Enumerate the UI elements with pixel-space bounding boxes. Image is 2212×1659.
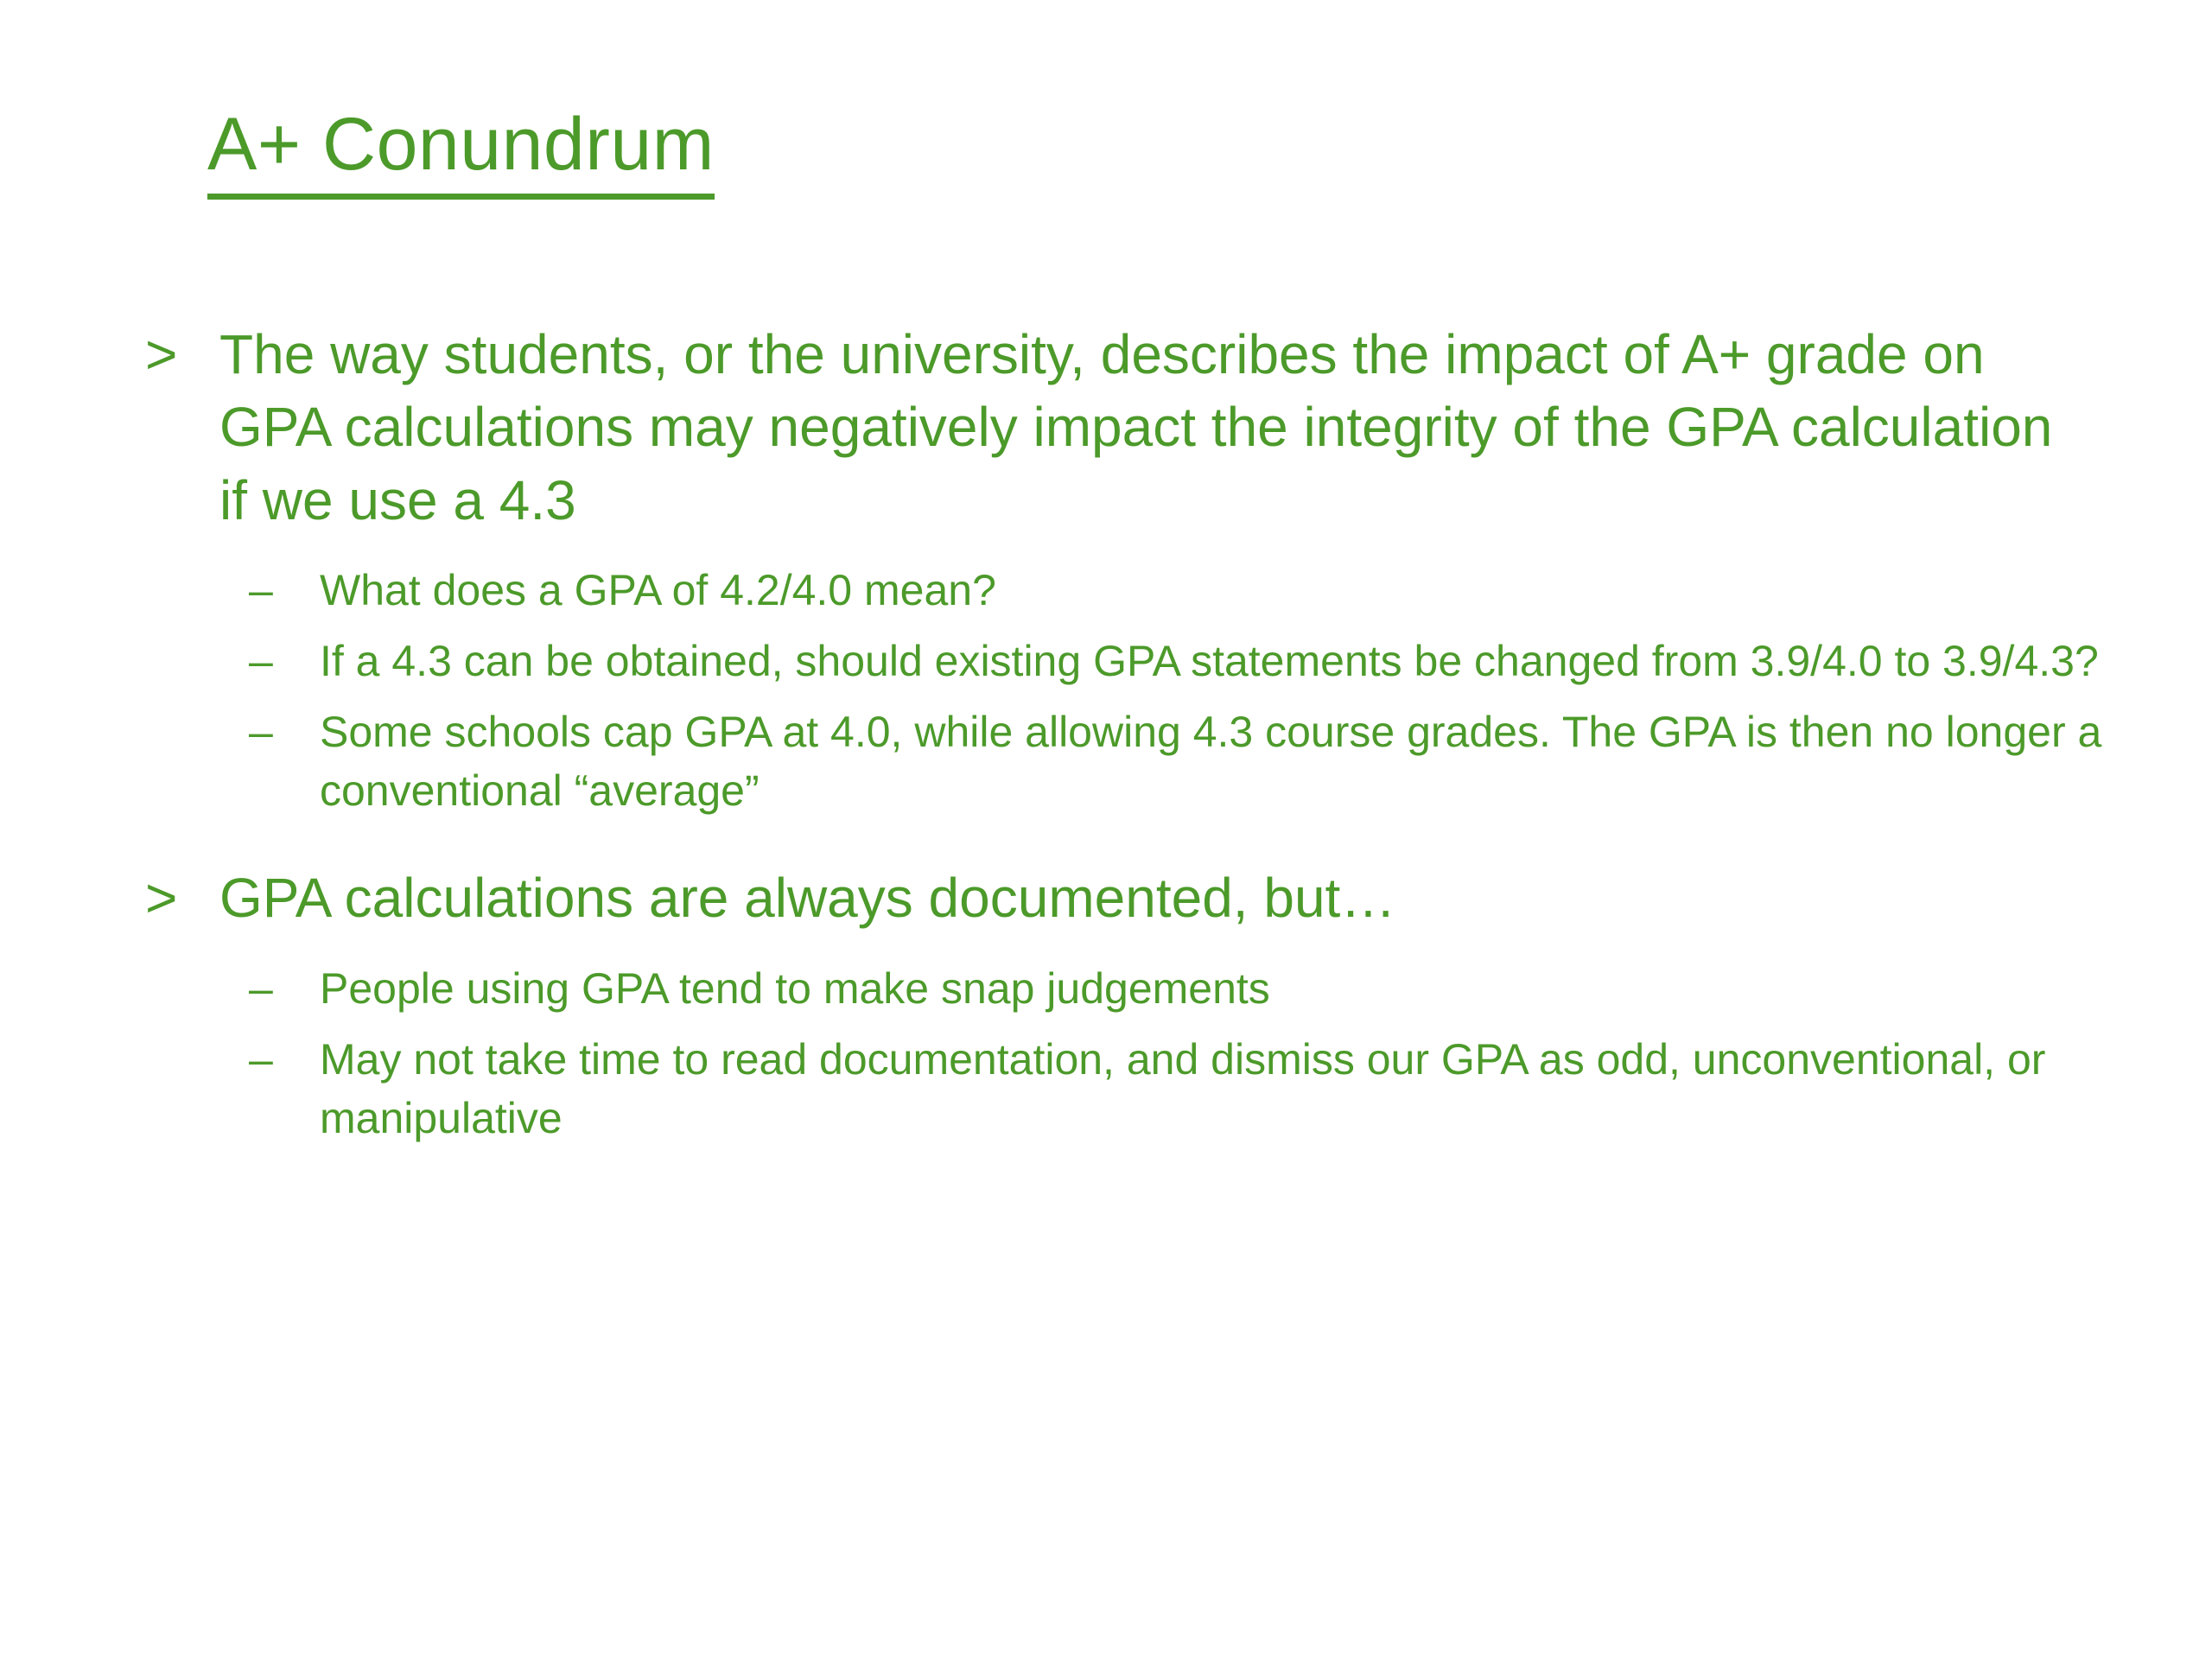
bullet-level1: > GPA calculations are always documented… [0,861,2212,934]
bullet-level2: – What does a GPA of 4.2/4.0 mean? [0,561,2212,620]
dash-bullet-icon: – [249,632,320,690]
bullet-level2-text: People using GPA tend to make snap judge… [320,959,2117,1018]
bullet-level2: – May not take time to read documentatio… [0,1030,2212,1147]
bullet-level2: – People using GPA tend to make snap jud… [0,959,2212,1018]
spacer [0,542,2212,561]
chevron-bullet-icon: > [145,318,219,391]
bullet-level1: > The way students, or the university, d… [0,318,2212,537]
bullet-level2: – If a 4.3 can be obtained, should exist… [0,632,2212,690]
dash-bullet-icon: – [249,561,320,620]
chevron-bullet-icon: > [145,861,219,934]
dash-bullet-icon: – [249,959,320,1018]
dash-bullet-icon: – [249,702,320,761]
bullet-level2-text: May not take time to read documentation,… [320,1030,2117,1147]
spacer [0,832,2212,861]
bullet-level1-text: The way students, or the university, des… [219,318,2069,537]
slide-title-container: A+ Conundrum [207,105,715,200]
presentation-slide: A+ Conundrum > The way students, or the … [0,0,2212,1659]
bullet-level2: – Some schools cap GPA at 4.0, while all… [0,702,2212,820]
bullet-level1-text: GPA calculations are always documented, … [219,861,2069,934]
slide-body: > The way students, or the university, d… [0,318,2212,1160]
bullet-level2-text: Some schools cap GPA at 4.0, while allow… [320,702,2117,820]
bullet-level2-text: What does a GPA of 4.2/4.0 mean? [320,561,2117,620]
dash-bullet-icon: – [249,1030,320,1089]
page-title: A+ Conundrum [207,105,715,200]
spacer [0,940,2212,959]
bullet-level2-text: If a 4.3 can be obtained, should existin… [320,632,2117,690]
